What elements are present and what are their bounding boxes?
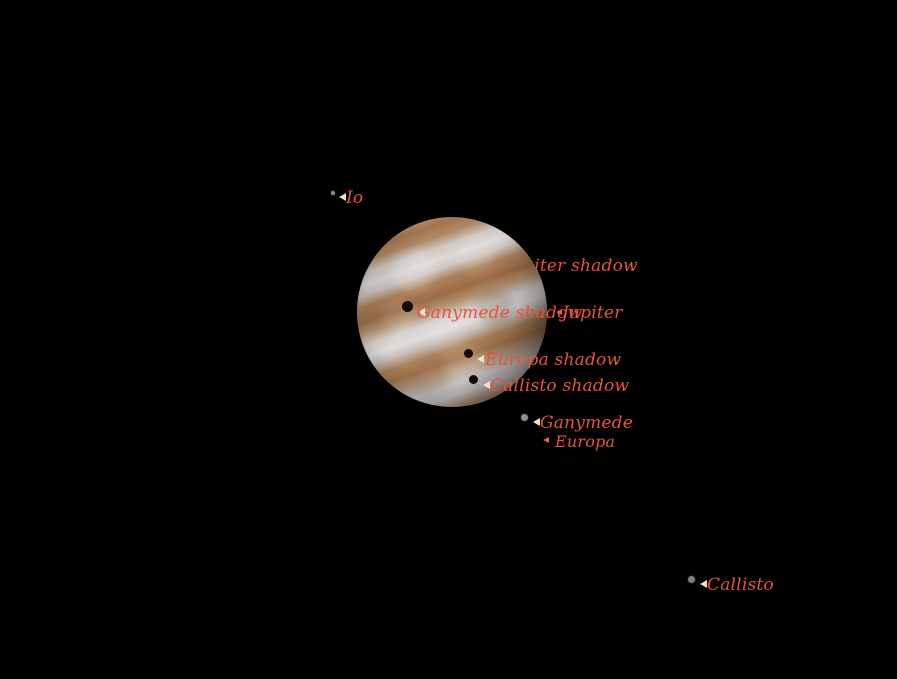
marker-pointer-ganymede xyxy=(533,418,540,426)
object-label-callisto-shadow[interactable]: Callisto shadow xyxy=(490,376,629,396)
moon-disk-callisto[interactable] xyxy=(688,576,695,583)
marker-pointer-europa-shadow xyxy=(477,355,484,363)
object-label-europa-shadow[interactable]: Europa shadow xyxy=(485,350,621,370)
object-label-europa[interactable]: Europa xyxy=(555,432,615,451)
object-label-callisto[interactable]: Callisto xyxy=(707,575,774,595)
sky-view[interactable]: Jupiter shadow Io Ganymede shadow Jupite… xyxy=(0,0,897,679)
object-label-io[interactable]: Io xyxy=(346,188,363,208)
shadow-disk-callisto[interactable] xyxy=(469,375,478,384)
object-label-ganymede[interactable]: Ganymede xyxy=(540,413,633,433)
object-label-jupiter[interactable]: Jupiter xyxy=(562,303,623,323)
marker-pointer-io xyxy=(339,193,346,201)
shadow-disk-europa[interactable] xyxy=(464,349,473,358)
moon-disk-ganymede[interactable] xyxy=(521,414,528,421)
marker-pointer-europa xyxy=(543,437,549,443)
marker-pointer-callisto xyxy=(700,580,707,588)
moon-disk-io[interactable] xyxy=(331,191,335,195)
shadow-disk-ganymede[interactable] xyxy=(402,301,413,312)
marker-pointer-callisto-shadow xyxy=(483,381,490,389)
